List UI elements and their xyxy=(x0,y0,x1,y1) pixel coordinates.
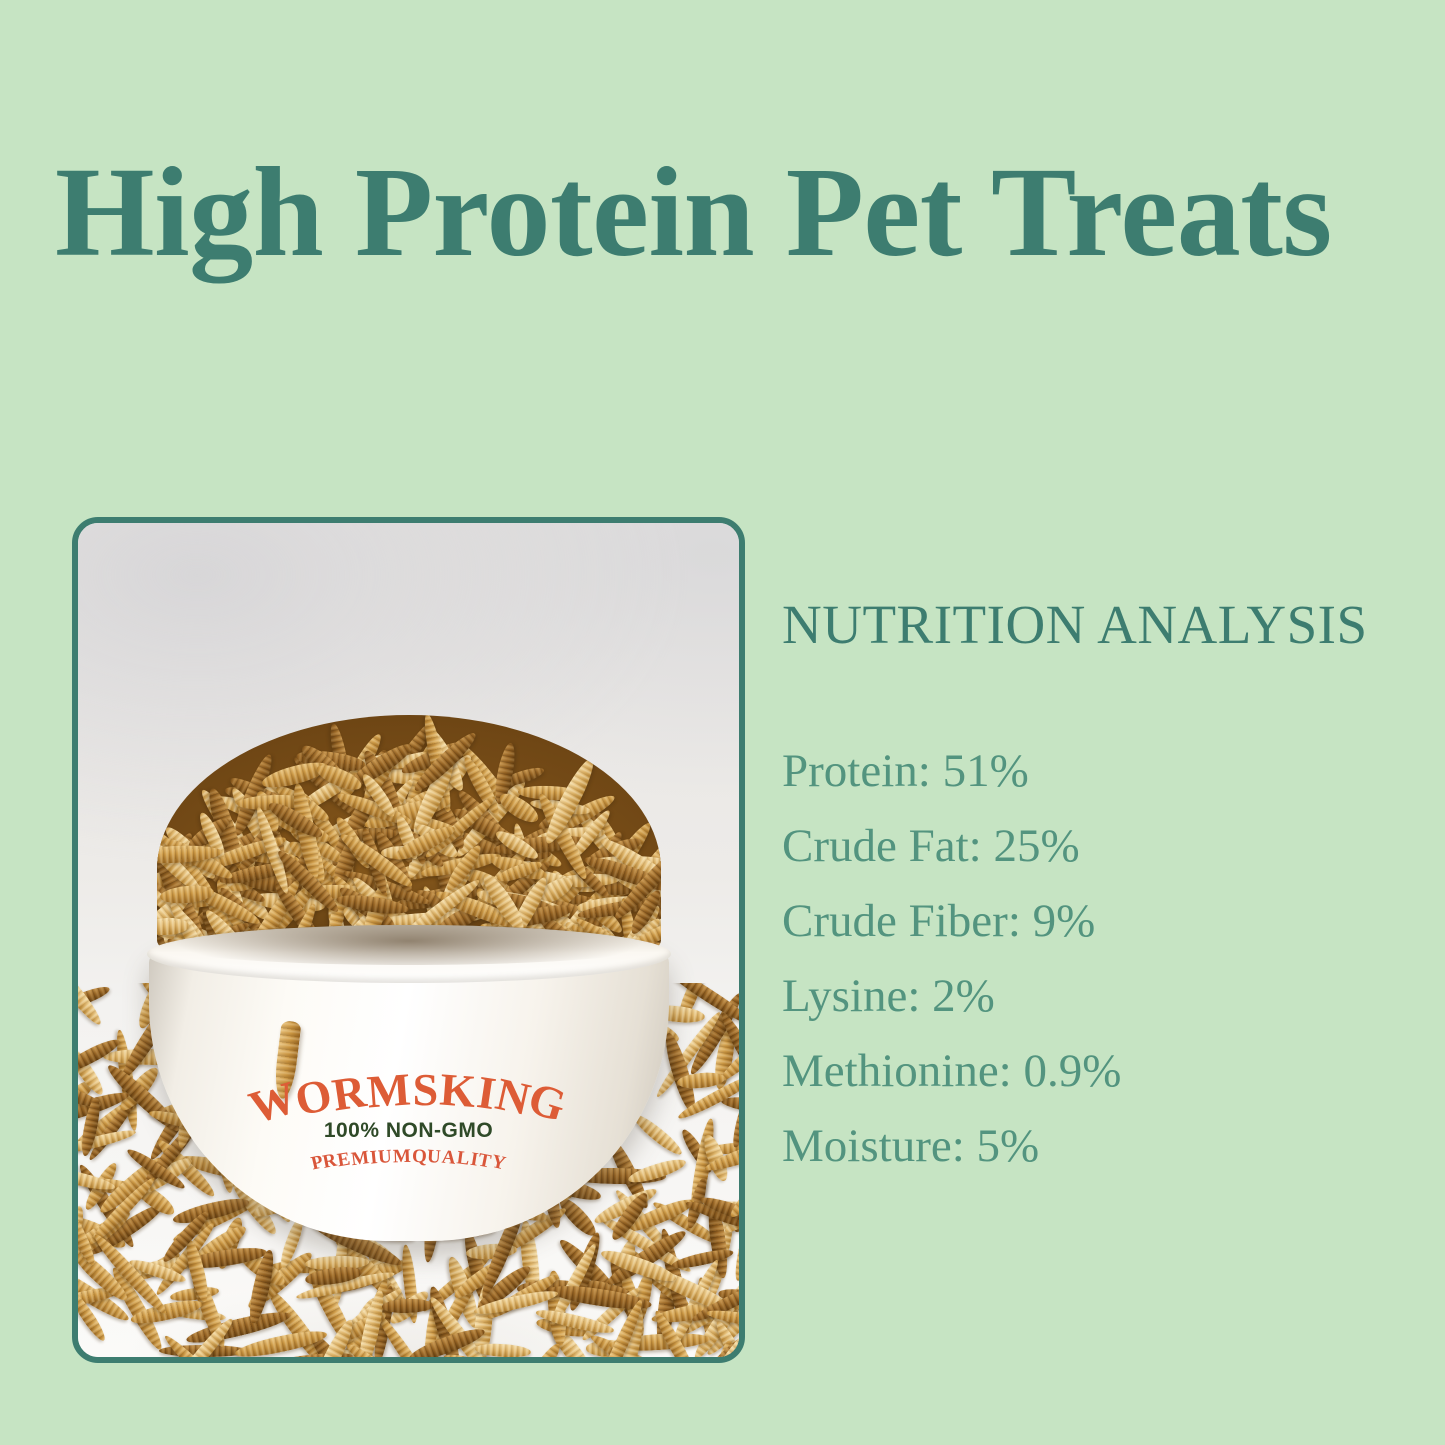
brand-tagline: PREMIUM QUALITY xyxy=(209,1146,609,1168)
brand-subtitle: 100% NON-GMO xyxy=(209,1119,609,1143)
nutrition-item: Crude Fat: 25% xyxy=(782,809,1412,884)
nutrition-analysis-heading: NUTRITION ANALYSIS xyxy=(782,597,1412,652)
bowl-inner-shadow xyxy=(159,925,659,965)
page-title: High Protein Pet Treats xyxy=(55,148,1415,276)
bowl-rim xyxy=(147,925,671,983)
nutrition-list: Protein: 51%Crude Fat: 25%Crude Fiber: 9… xyxy=(782,734,1412,1184)
nutrition-item: Crude Fiber: 9% xyxy=(782,884,1412,959)
nutrition-item: Methionine: 0.9% xyxy=(782,1034,1412,1109)
nutrition-item: Protein: 51% xyxy=(782,734,1412,809)
dangling-mealworm xyxy=(272,1020,301,1100)
nutrition-item: Moisture: 5% xyxy=(782,1109,1412,1184)
mealworm-bowl: WORMSKING 100% NON-GMO PREMIUM QUALITY xyxy=(149,841,669,1241)
nutrition-item: Lysine: 2% xyxy=(782,959,1412,1034)
product-photo: WORMSKING 100% NON-GMO PREMIUM QUALITY xyxy=(78,523,739,1357)
ceramic-bowl: WORMSKING 100% NON-GMO PREMIUM QUALITY xyxy=(149,935,669,1241)
brand-name: WORMSKING xyxy=(209,1067,609,1113)
product-photo-frame: WORMSKING 100% NON-GMO PREMIUM QUALITY xyxy=(72,517,745,1363)
nutrition-analysis-panel: NUTRITION ANALYSIS Protein: 51%Crude Fat… xyxy=(782,597,1412,1184)
bowl-brand-logo: WORMSKING 100% NON-GMO PREMIUM QUALITY xyxy=(209,1067,609,1168)
product-infographic-poster: High Protein Pet Treats WORMSKING xyxy=(0,0,1445,1445)
